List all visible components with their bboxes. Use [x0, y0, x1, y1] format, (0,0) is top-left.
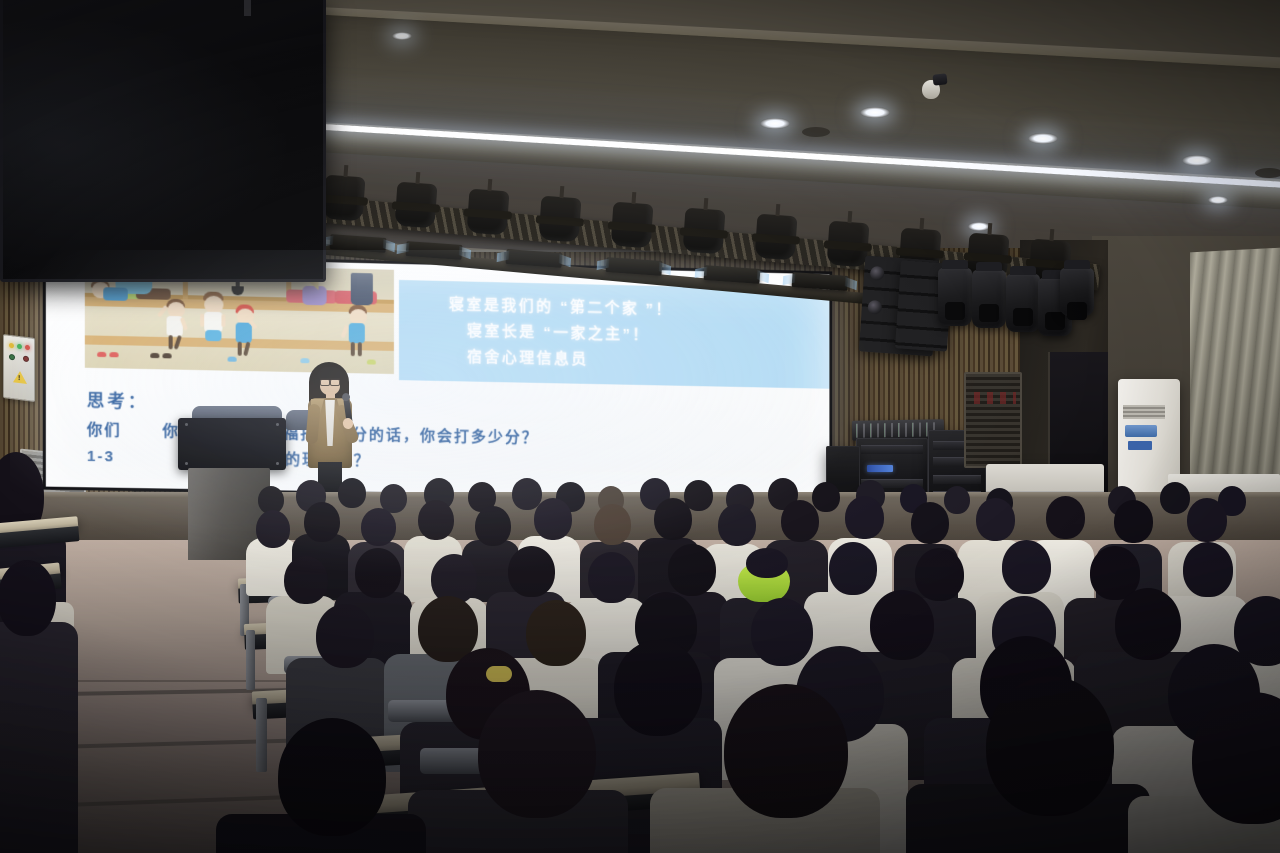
speaker-port — [870, 266, 885, 281]
wall-speaker-grille — [964, 372, 1022, 468]
rack-unit — [861, 445, 923, 454]
auditorium-photo: 寝室是我们的 “第二个家 ”！ 寝室长是 “一家之主”！ 宿舍心理信息员 思考：… — [0, 0, 1280, 853]
downlight-icon — [1182, 155, 1212, 166]
ceiling-vent — [1255, 168, 1280, 178]
indicator-lamp-red — [25, 345, 30, 351]
downlight-icon — [860, 107, 890, 118]
par-can-light — [827, 221, 870, 268]
hanging-pants-icon — [351, 273, 373, 306]
par-can-light — [683, 208, 726, 255]
warning-triangle-icon — [13, 370, 27, 384]
indicator-lamp-green — [17, 344, 22, 350]
desk-leg — [256, 698, 267, 772]
rack-unit — [933, 475, 981, 484]
slide-blue-textbox: 寝室是我们的 “第二个家 ”！ 寝室长是 “一家之主”！ 宿舍心理信息员 — [399, 280, 829, 389]
ceiling-mounted-monitor[interactable] — [0, 0, 326, 282]
downlight-icon — [1028, 133, 1058, 144]
downlight-icon — [968, 222, 990, 231]
monitor-screen-reflection — [3, 0, 323, 279]
ac-air-grill — [1123, 405, 1165, 419]
question-line-2-prefix: 1-3 — [87, 448, 115, 466]
par-can-light — [611, 202, 654, 249]
camera-lens — [932, 73, 947, 85]
grille-pattern — [974, 392, 1016, 404]
moving-head-light — [1060, 268, 1094, 316]
panel-button[interactable] — [23, 355, 29, 362]
glasses-icon — [320, 378, 340, 383]
par-can-light — [323, 175, 366, 222]
electrical-control-panel[interactable] — [3, 334, 35, 402]
panel-button[interactable] — [9, 354, 15, 361]
ac-brand-badge — [1128, 441, 1152, 450]
moving-head-light — [938, 268, 972, 326]
par-can-light — [539, 196, 582, 243]
surveillance-camera-icon — [922, 74, 944, 100]
downlight-icon — [1208, 196, 1228, 204]
par-can-light — [755, 214, 798, 261]
par-can-light — [395, 182, 438, 229]
downlight-icon — [760, 118, 790, 129]
projection-screen: 寝室是我们的 “第二个家 ”！ 寝室长是 “一家之主”！ 宿舍心理信息员 思考：… — [46, 255, 830, 499]
speaker-port — [867, 300, 882, 315]
hair-tie — [486, 666, 512, 682]
presenter — [300, 362, 362, 488]
window-curtain — [1190, 248, 1280, 503]
monitor-ceiling-mount — [244, 0, 251, 16]
ac-display-panel[interactable] — [1125, 425, 1157, 437]
lectern-top-panel — [178, 418, 286, 470]
moving-head-light — [972, 270, 1006, 328]
indicator-lamp-yellow — [9, 343, 14, 349]
ceiling-vent — [802, 127, 830, 137]
desk-leg — [246, 630, 255, 690]
question-line-1-prefix: 你们 — [87, 421, 122, 439]
downlight-icon — [392, 32, 412, 40]
rack-display — [867, 465, 893, 472]
moving-head-light — [1006, 274, 1040, 332]
par-can-light — [467, 189, 510, 236]
